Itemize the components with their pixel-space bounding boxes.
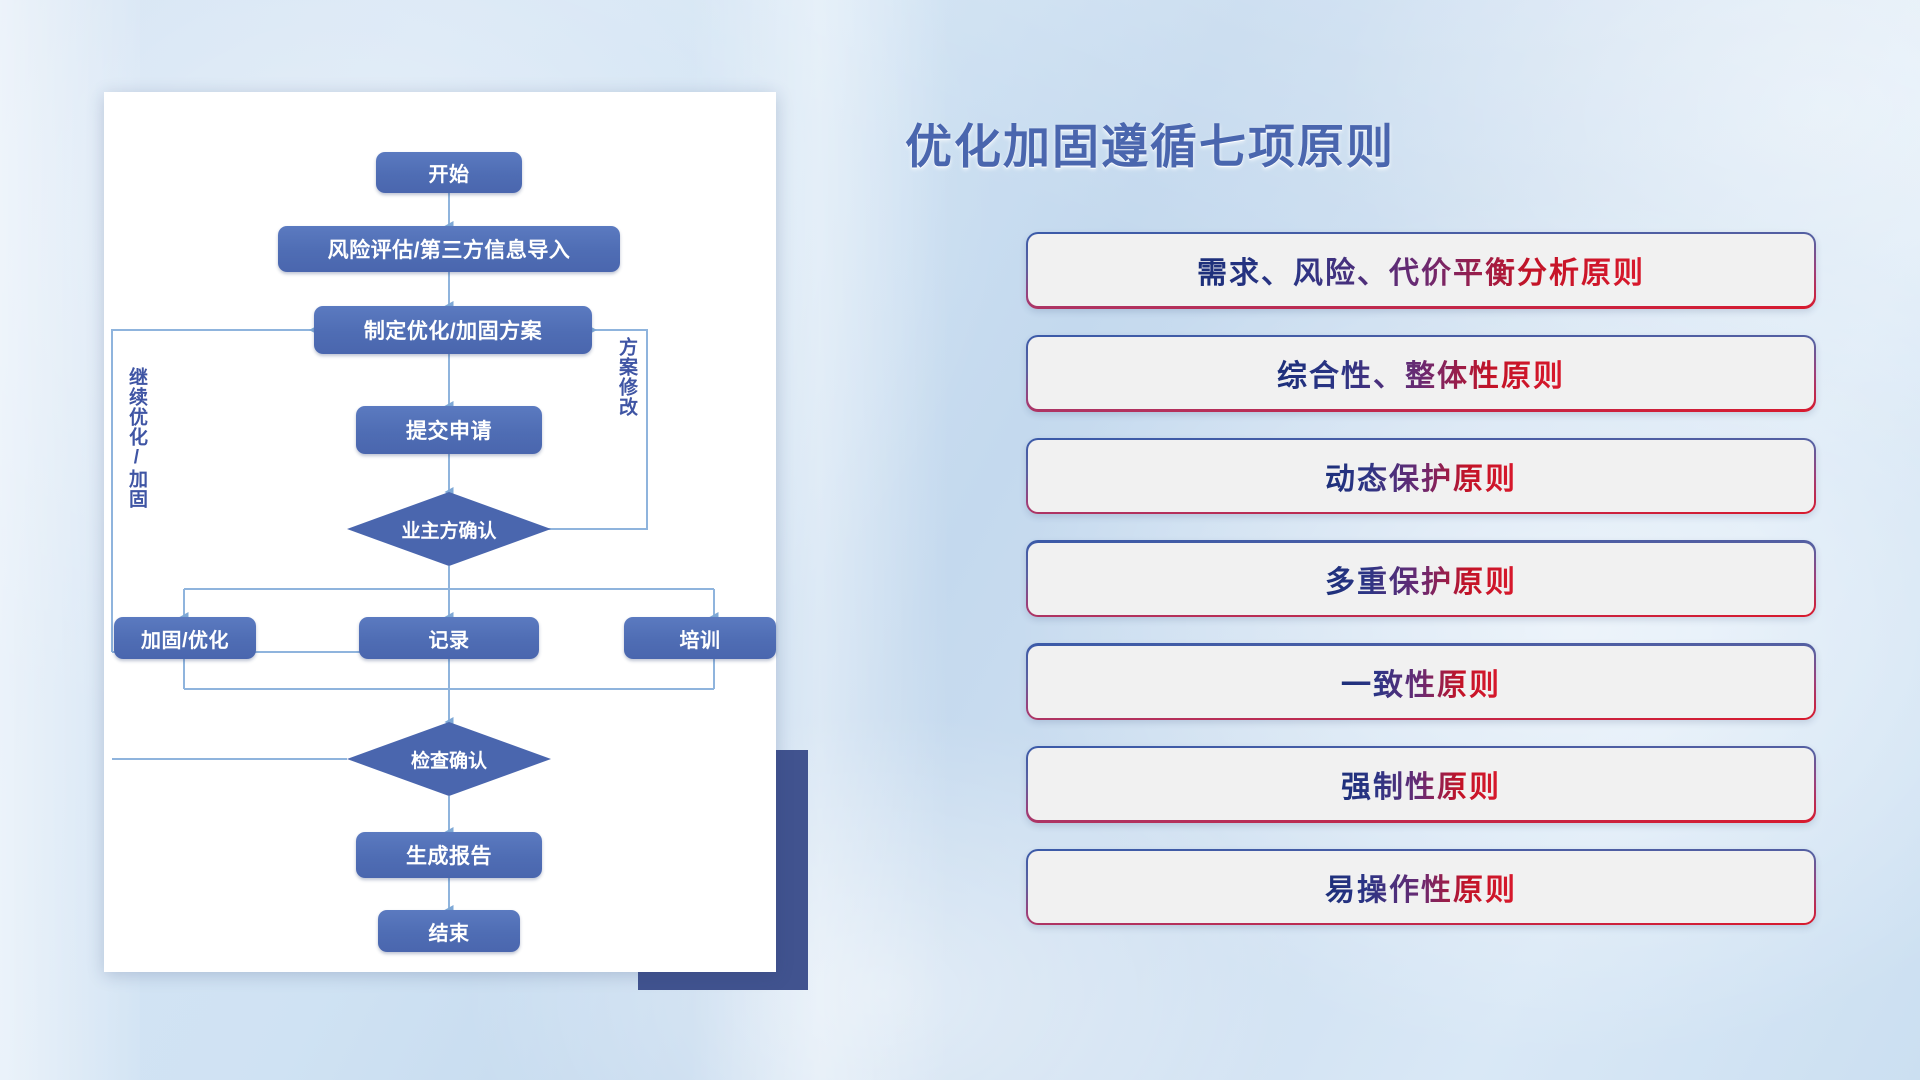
flow-node-end-label: 结束 — [429, 917, 470, 946]
principle-card-2[interactable]: 综合性、整体性原则 — [1026, 335, 1816, 412]
flow-node-reinforce-label: 加固/优化 — [141, 624, 229, 653]
flow-node-record-label: 记录 — [429, 624, 470, 653]
flowchart: 开始 风险评估/第三方信息导入 制定优化/加固方案 提交申请 业主方确认 加固/… — [104, 92, 776, 972]
flow-node-submit-label: 提交申请 — [406, 415, 492, 445]
principle-card-7[interactable]: 易操作性原则 — [1026, 849, 1816, 926]
principle-card-3-label: 动态保护原则 — [1325, 454, 1517, 498]
flow-node-risk-assessment[interactable]: 风险评估/第三方信息导入 — [278, 226, 620, 272]
page-title: 优化加固遵循七项原则 — [905, 108, 1395, 177]
flow-node-record[interactable]: 记录 — [359, 617, 539, 659]
flowchart-sheet: 开始 风险评估/第三方信息导入 制定优化/加固方案 提交申请 业主方确认 加固/… — [104, 92, 776, 972]
flow-node-report[interactable]: 生成报告 — [356, 832, 542, 878]
flow-node-report-label: 生成报告 — [406, 840, 492, 870]
flow-node-plan-label: 制定优化/加固方案 — [364, 315, 542, 345]
principle-card-7-label: 易操作性原则 — [1325, 865, 1517, 909]
principle-card-1[interactable]: 需求、风险、代价平衡分析原则 — [1026, 232, 1816, 309]
flow-node-plan[interactable]: 制定优化/加固方案 — [314, 306, 592, 354]
principle-card-1-inner: 需求、风险、代价平衡分析原则 — [1028, 234, 1813, 306]
flow-edge-label-right-text: 方案修改 — [616, 337, 637, 417]
flow-node-training-label: 培训 — [680, 624, 721, 653]
principle-card-7-inner: 易操作性原则 — [1028, 851, 1813, 923]
principle-card-1-label: 需求、风险、代价平衡分析原则 — [1197, 248, 1645, 292]
flow-edge-label-left-text: 继续优化/加固 — [126, 367, 147, 509]
flow-node-owner-confirm-label: 业主方确认 — [401, 516, 496, 543]
principle-card-3-inner: 动态保护原则 — [1028, 440, 1813, 512]
principle-card-6-inner: 强制性原则 — [1028, 748, 1813, 820]
principle-card-4-label: 多重保护原则 — [1325, 557, 1517, 601]
principle-card-4-inner: 多重保护原则 — [1028, 543, 1813, 615]
principle-card-2-label: 综合性、整体性原则 — [1277, 351, 1565, 395]
flow-edge-label-left: 继续优化/加固 — [126, 367, 146, 537]
flow-node-training[interactable]: 培训 — [624, 617, 776, 659]
flow-node-end[interactable]: 结束 — [378, 910, 520, 952]
flow-node-reinforce[interactable]: 加固/优化 — [114, 617, 256, 659]
principle-card-6[interactable]: 强制性原则 — [1026, 746, 1816, 823]
flow-edge-label-right: 方案修改 — [616, 337, 636, 457]
principles-list: 需求、风险、代价平衡分析原则 综合性、整体性原则 动态保护原则 多重保护原则 一… — [1026, 232, 1816, 951]
principle-card-6-label: 强制性原则 — [1341, 762, 1501, 806]
principle-card-5-label: 一致性原则 — [1341, 660, 1501, 704]
principle-card-4[interactable]: 多重保护原则 — [1026, 540, 1816, 617]
principle-card-5-inner: 一致性原则 — [1028, 646, 1813, 718]
principle-card-5[interactable]: 一致性原则 — [1026, 643, 1816, 720]
flow-node-inspect-confirm-label: 检查确认 — [411, 746, 487, 773]
flow-node-risk-assessment-label: 风险评估/第三方信息导入 — [328, 234, 571, 264]
principle-card-3[interactable]: 动态保护原则 — [1026, 438, 1816, 515]
flow-node-submit[interactable]: 提交申请 — [356, 406, 542, 454]
principle-card-2-inner: 综合性、整体性原则 — [1028, 337, 1813, 409]
flow-node-start-label: 开始 — [429, 158, 470, 187]
flow-node-start[interactable]: 开始 — [376, 152, 522, 193]
